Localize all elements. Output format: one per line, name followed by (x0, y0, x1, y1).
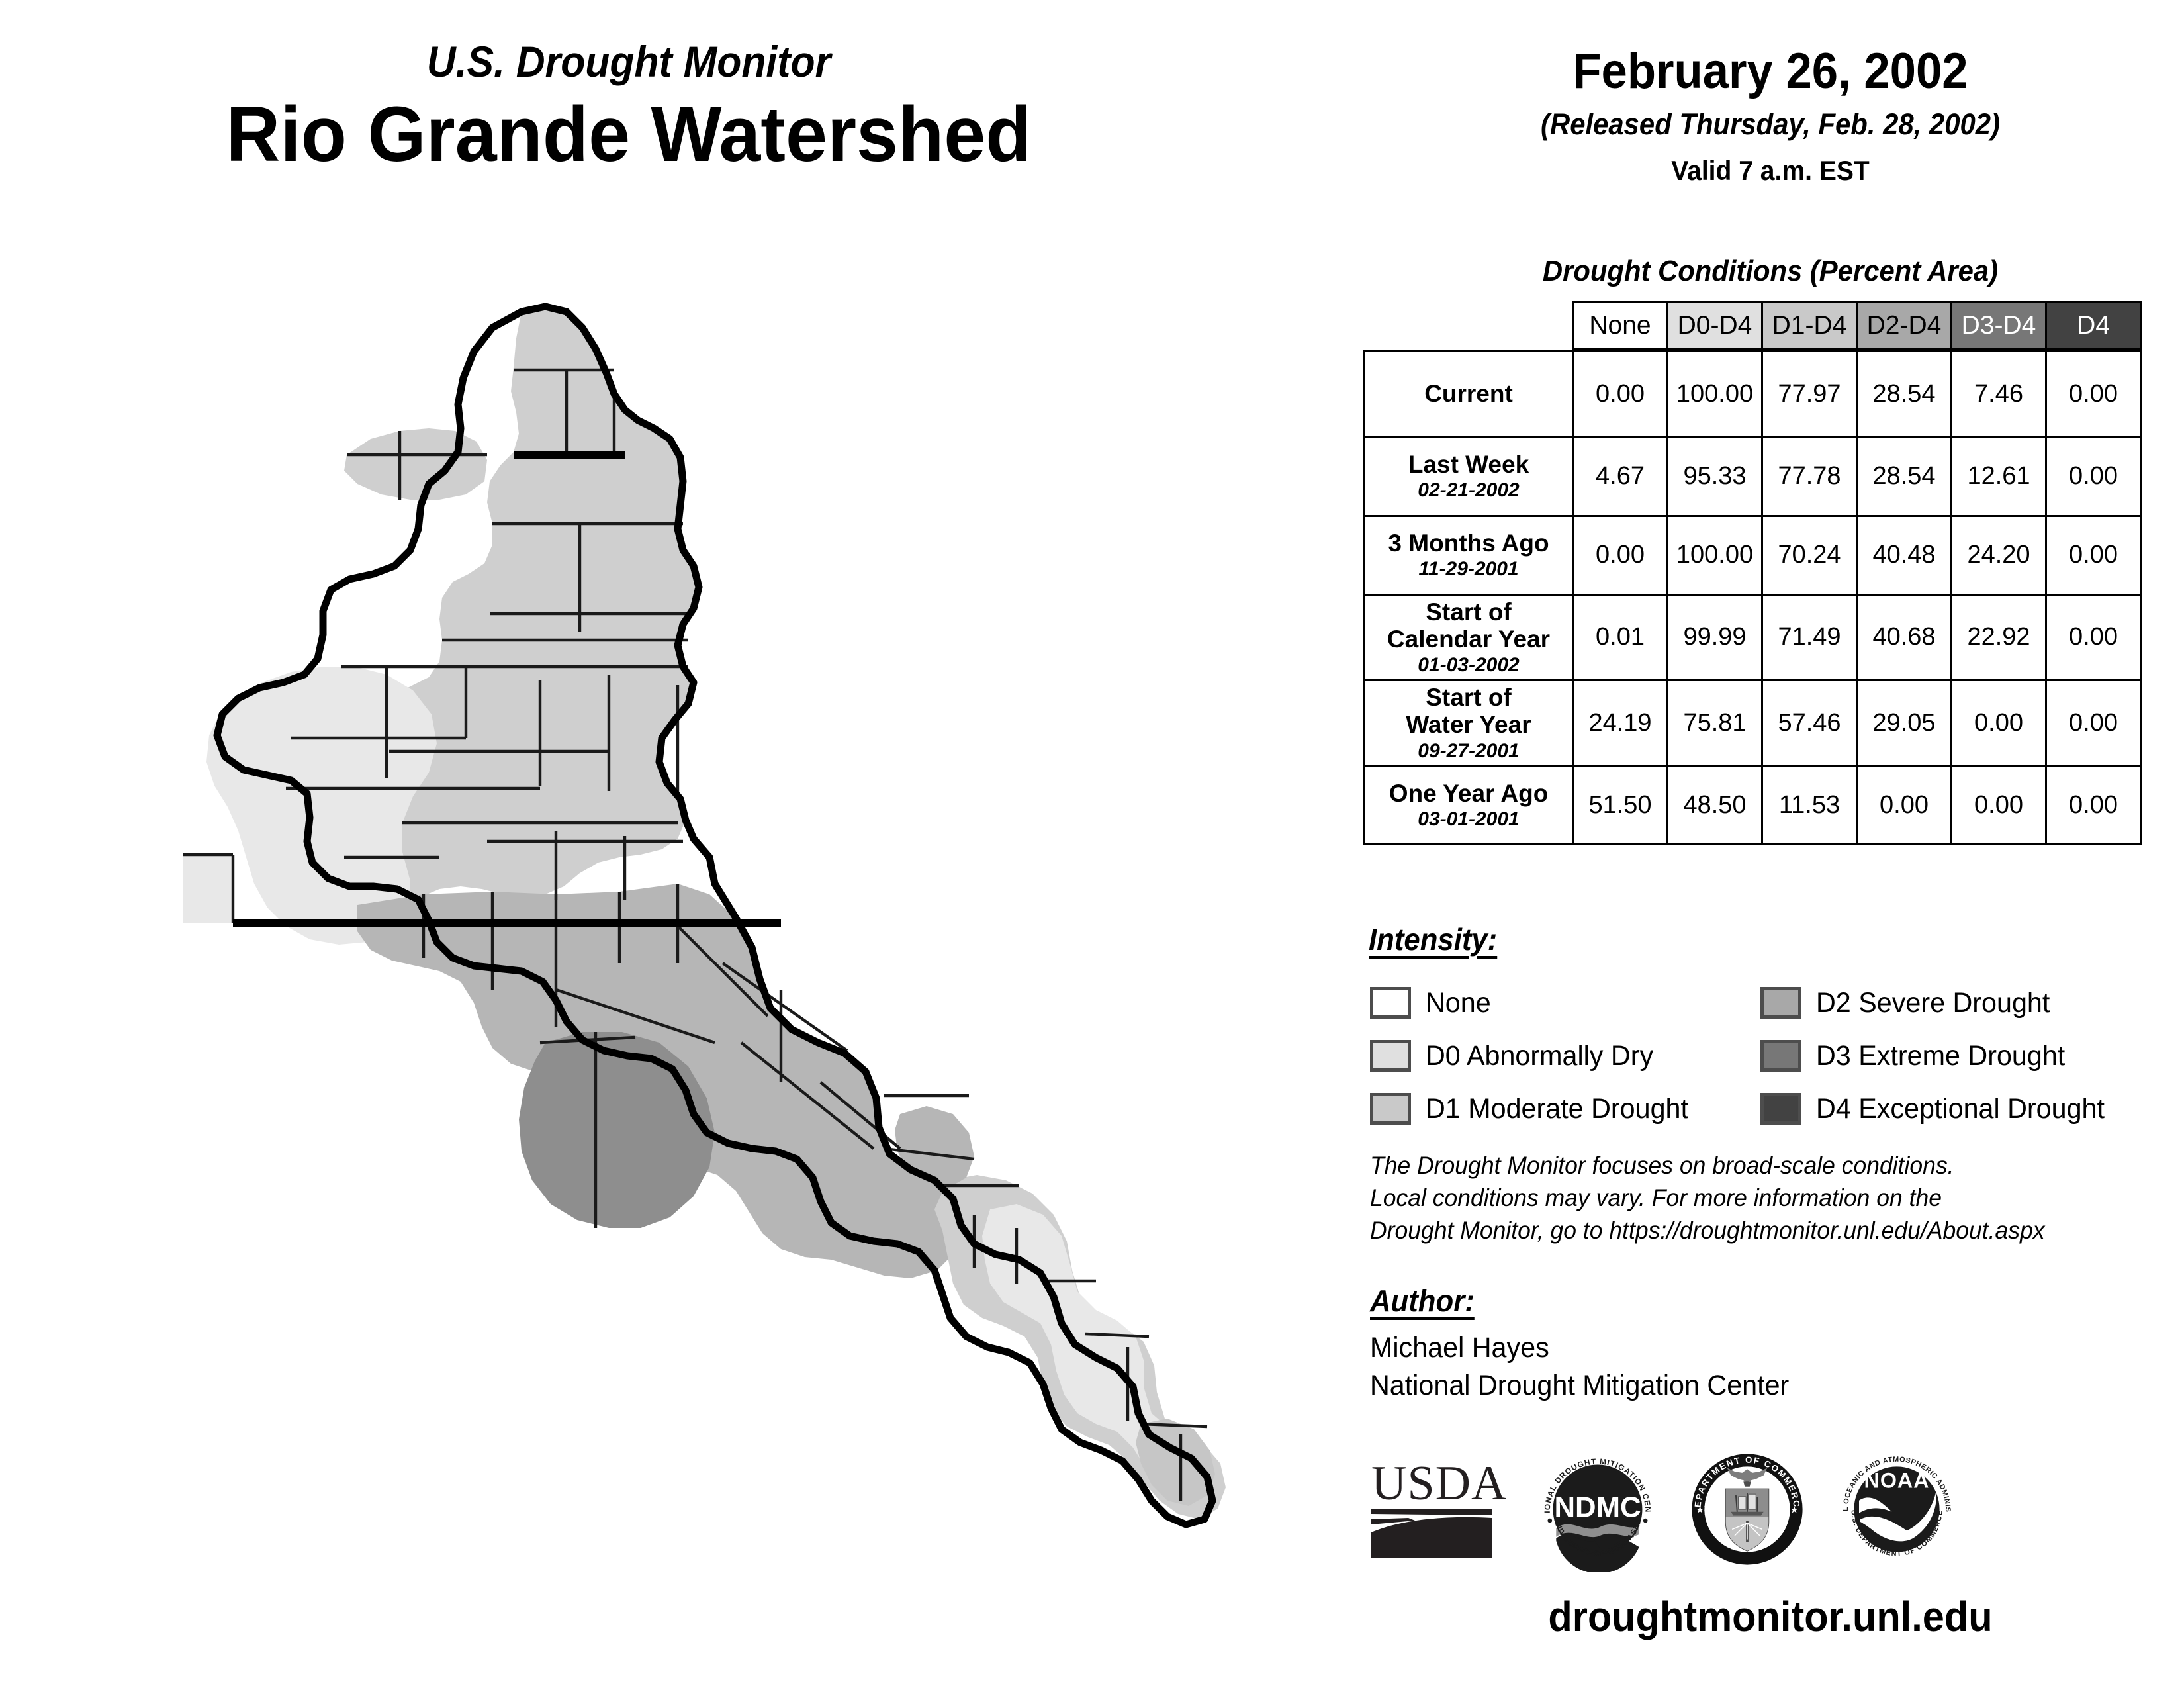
intensity-heading: Intensity: (1369, 921, 1497, 957)
legend-item: D4 Exceptional Drought (1760, 1093, 2171, 1125)
table-cell-d3-d4: 12.61 (1952, 437, 2046, 516)
table-corner-cell (1365, 303, 1573, 351)
legend-swatch (1370, 1040, 1411, 1072)
legend-swatch (1760, 987, 1801, 1019)
doc-seal-logo: DEPARTMENT OF COMMERCE UNITED STATES OF … (1684, 1446, 1810, 1575)
row-label-date: 02-21-2002 (1369, 479, 1568, 502)
table-cell-d3-d4: 24.20 (1952, 516, 2046, 594)
legend-item: None (1370, 987, 1760, 1019)
table-cell-d0-d4: 48.50 (1668, 766, 1762, 845)
table-cell-d0-d4: 100.00 (1668, 516, 1762, 594)
column-header-d4: D4 (2046, 303, 2141, 351)
table-cell-d3-d4: 0.00 (1952, 766, 2046, 845)
legend-item: D0 Abnormally Dry (1370, 1040, 1760, 1072)
row-label: 3 Months Ago11-29-2001 (1365, 516, 1573, 594)
table-row: Start ofWater Year09-27-200124.1975.8157… (1365, 680, 2141, 765)
column-header-none: None (1573, 303, 1668, 351)
column-header-d1-d4: D1-D4 (1762, 303, 1857, 351)
usda-logo: USDA (1369, 1452, 1511, 1571)
table-cell-d0-d4: 100.00 (1668, 350, 1762, 437)
table-cell-d3-d4: 22.92 (1952, 594, 2046, 680)
legend-item: D3 Extreme Drought (1760, 1040, 2171, 1072)
legend-label: D2 Severe Drought (1816, 987, 2050, 1019)
table-cell-d2-d4: 28.54 (1857, 350, 1952, 437)
legend-item: D2 Severe Drought (1760, 987, 2171, 1019)
noaa-logo: NOAA NATIONAL OCEANIC AND ATMOSPHERIC AD… (1834, 1446, 1960, 1575)
table-cell-d2-d4: 28.54 (1857, 437, 1952, 516)
svg-text:USDA: USDA (1371, 1456, 1507, 1511)
table-cell-d2-d4: 0.00 (1857, 766, 1952, 845)
table-row: 3 Months Ago11-29-20010.00100.0070.2440.… (1365, 516, 2141, 594)
svg-text:★: ★ (1790, 1505, 1799, 1516)
table-cell-d0-d4: 99.99 (1668, 594, 1762, 680)
row-label: One Year Ago03-01-2001 (1365, 766, 1573, 845)
table-cell-d1-d4: 70.24 (1762, 516, 1857, 594)
noaa-wordmark: NOAA (1864, 1469, 1930, 1493)
legend-swatch (1370, 987, 1411, 1019)
table-cell-none: 51.50 (1573, 766, 1668, 845)
legend-item: D1 Moderate Drought (1370, 1093, 1760, 1125)
map-svg[interactable] (159, 301, 1324, 1632)
drought-conditions-table: None D0-D4 D1-D4 D2-D4 D3-D4 D4 Current0… (1363, 301, 2142, 845)
table-cell-d1-d4: 57.46 (1762, 680, 1857, 765)
column-header-d2-d4: D2-D4 (1857, 303, 1952, 351)
table-cell-d4: 0.00 (2046, 350, 2141, 437)
disclaimer-line-1: The Drought Monitor focuses on broad-sca… (1370, 1150, 2139, 1182)
legend-swatch (1760, 1093, 1801, 1125)
table-caption: Drought Conditions (Percent Area) (1377, 255, 2163, 288)
valid-date: February 26, 2002 (1386, 46, 2156, 97)
table-row: Current0.00100.0077.9728.547.460.00 (1365, 350, 2141, 437)
table-cell-d4: 0.00 (2046, 680, 2141, 765)
table-cell-none: 24.19 (1573, 680, 1668, 765)
column-header-d0-d4: D0-D4 (1668, 303, 1762, 351)
title-block: U.S. Drought Monitor Rio Grande Watershe… (0, 40, 1257, 177)
table-row: Start ofCalendar Year01-03-20020.0199.99… (1365, 594, 2141, 680)
row-label: Last Week02-21-2002 (1365, 437, 1573, 516)
table-body: Current0.00100.0077.9728.547.460.00Last … (1365, 350, 2141, 845)
intensity-legend: NoneD2 Severe DroughtD0 Abnormally DryD3… (1370, 976, 2171, 1135)
author-organization: National Drought Mitigation Center (1370, 1367, 2139, 1405)
row-label-date: 03-01-2001 (1369, 808, 1568, 831)
released-date: (Released Thursday, Feb. 28, 2002) (1386, 107, 2156, 142)
table-cell-d1-d4: 77.97 (1762, 350, 1857, 437)
table-cell-none: 0.00 (1573, 350, 1668, 437)
table-cell-d1-d4: 77.78 (1762, 437, 1857, 516)
map-region-west-nub (183, 855, 233, 923)
disclaimer-line-2: Local conditions may vary. For more info… (1370, 1182, 2139, 1215)
table-cell-d0-d4: 75.81 (1668, 680, 1762, 765)
table-cell-d3-d4: 0.00 (1952, 680, 2046, 765)
table-cell-d2-d4: 29.05 (1857, 680, 1952, 765)
right-panel: February 26, 2002 (Released Thursday, Fe… (1357, 0, 2184, 1688)
legend-label: None (1426, 987, 1491, 1019)
row-label: Start ofCalendar Year01-03-2002 (1365, 594, 1573, 680)
map-region-nw-nub (344, 428, 487, 500)
svg-text:NDMC: NDMC (1554, 1491, 1641, 1523)
logo-row: USDA NDMC NATIONAL DROUGHT MITIGATION CE (1369, 1443, 2173, 1579)
table-cell-d1-d4: 11.53 (1762, 766, 1857, 845)
table-cell-d2-d4: 40.48 (1857, 516, 1952, 594)
table-cell-d4: 0.00 (2046, 594, 2141, 680)
page-kicker: U.S. Drought Monitor (50, 40, 1207, 83)
table-cell-none: 0.00 (1573, 516, 1668, 594)
author-block: Michael Hayes National Drought Mitigatio… (1370, 1329, 2139, 1405)
table-cell-d1-d4: 71.49 (1762, 594, 1857, 680)
table-cell-d0-d4: 95.33 (1668, 437, 1762, 516)
row-label-date: 01-03-2002 (1369, 654, 1568, 677)
page-title: Rio Grande Watershed (25, 93, 1232, 177)
column-header-d3-d4: D3-D4 (1952, 303, 2046, 351)
table-cell-none: 4.67 (1573, 437, 1668, 516)
footer-url[interactable]: droughtmonitor.unl.edu (1386, 1592, 2156, 1641)
ndmc-logo: NDMC NATIONAL DROUGHT MITIGATION CENTER … (1535, 1446, 1661, 1575)
disclaimer-text: The Drought Monitor focuses on broad-sca… (1370, 1150, 2139, 1246)
svg-text:★: ★ (1696, 1505, 1704, 1516)
row-label-date: 11-29-2001 (1369, 558, 1568, 581)
legend-swatch (1760, 1040, 1801, 1072)
legend-label: D0 Abnormally Dry (1426, 1040, 1653, 1072)
table-cell-none: 0.01 (1573, 594, 1668, 680)
table-cell-d3-d4: 7.46 (1952, 350, 2046, 437)
table-row: Last Week02-21-20024.6795.3377.7828.5412… (1365, 437, 2141, 516)
legend-label: D1 Moderate Drought (1426, 1093, 1688, 1125)
rio-grande-watershed-map[interactable] (159, 301, 1324, 1632)
legend-swatch (1370, 1093, 1411, 1125)
date-block: February 26, 2002 (Released Thursday, Fe… (1357, 46, 2184, 187)
table-row: One Year Ago03-01-200151.5048.5011.530.0… (1365, 766, 2141, 845)
author-heading: Author: (1370, 1283, 1475, 1319)
table-cell-d2-d4: 40.68 (1857, 594, 1952, 680)
left-panel: U.S. Drought Monitor Rio Grande Watershe… (0, 0, 1357, 1688)
legend-label: D3 Extreme Drought (1816, 1040, 2065, 1072)
table-header-row: None D0-D4 D1-D4 D2-D4 D3-D4 D4 (1365, 303, 2141, 351)
legend-label: D4 Exceptional Drought (1816, 1093, 2105, 1125)
author-name: Michael Hayes (1370, 1329, 2139, 1367)
disclaimer-line-3: Drought Monitor, go to https://droughtmo… (1370, 1215, 2139, 1247)
table-cell-d4: 0.00 (2046, 516, 2141, 594)
row-label-date: 09-27-2001 (1369, 740, 1568, 763)
row-label: Start ofWater Year09-27-2001 (1365, 680, 1573, 765)
table-cell-d4: 0.00 (2046, 766, 2141, 845)
row-label: Current (1365, 350, 1573, 437)
table-cell-d4: 0.00 (2046, 437, 2141, 516)
valid-time: Valid 7 a.m. EST (1386, 155, 2156, 187)
